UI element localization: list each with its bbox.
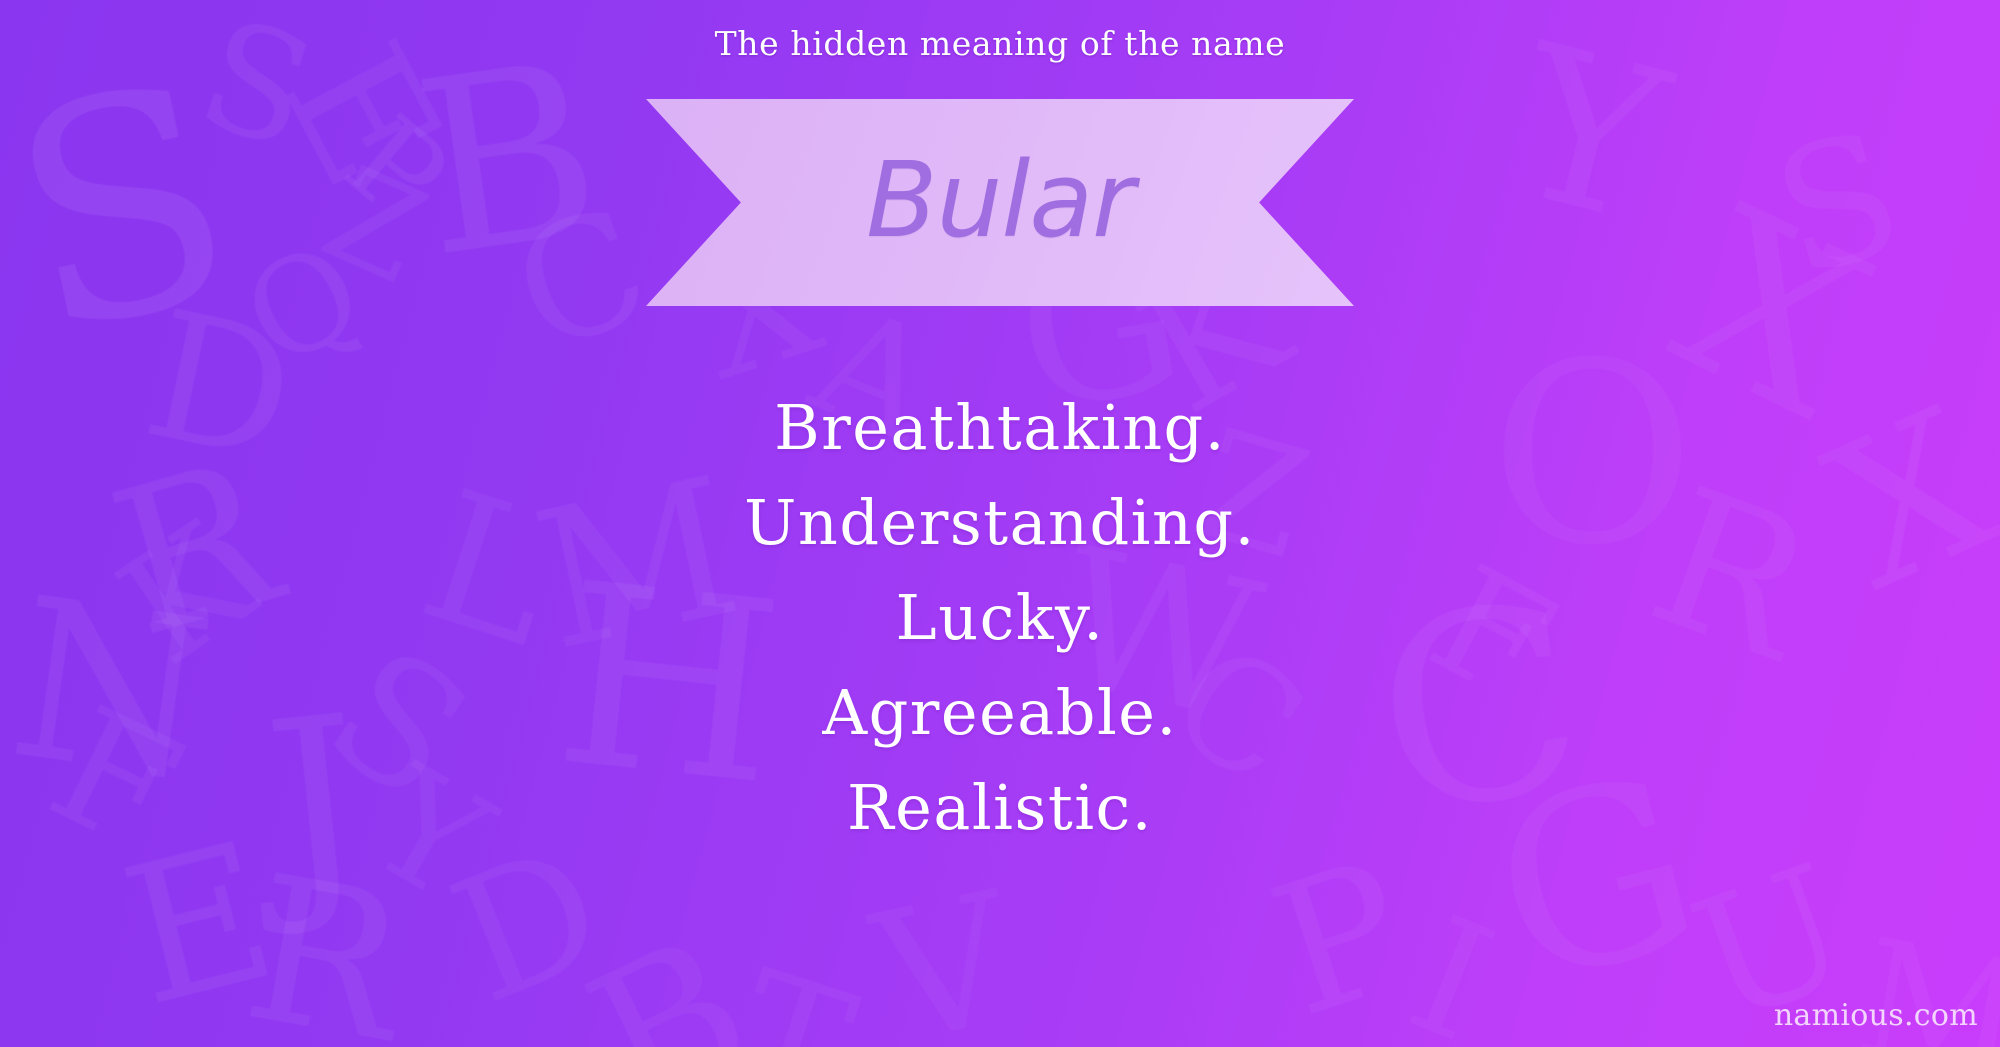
background-letter: V bbox=[863, 868, 1028, 1047]
background-letter: P bbox=[1255, 836, 1426, 1045]
background-letter: B bbox=[565, 909, 774, 1047]
meanings-list: Breathtaking.Understanding.Lucky.Agreeab… bbox=[0, 380, 2000, 855]
background-letter: P bbox=[326, 98, 465, 242]
site-watermark: namious.com bbox=[1774, 998, 1978, 1033]
name-meaning-graphic: SSQDPBECZRNKFERJSLMHDYXAGZKWCFGRXYSXOUMP… bbox=[0, 0, 2000, 1047]
meaning-line: Realistic. bbox=[0, 760, 2000, 855]
page-title: The hidden meaning of the name bbox=[0, 24, 2000, 63]
meaning-line: Lucky. bbox=[0, 570, 2000, 665]
meaning-line: Understanding. bbox=[0, 475, 2000, 570]
background-letter: I bbox=[1392, 894, 1511, 1047]
meaning-line: Breathtaking. bbox=[0, 380, 2000, 475]
background-letter: Z bbox=[307, 147, 442, 303]
background-letter: S bbox=[1759, 107, 1918, 303]
background-letter: T bbox=[718, 947, 869, 1047]
background-letter: B bbox=[404, 29, 612, 291]
background-letter: R bbox=[234, 848, 417, 1047]
background-letter: Q bbox=[226, 223, 381, 388]
name-ribbon-banner: Bular bbox=[646, 99, 1354, 306]
name-text: Bular bbox=[646, 99, 1354, 306]
background-letter: S bbox=[0, 42, 254, 378]
background-letter: C bbox=[496, 184, 666, 376]
meaning-line: Agreeable. bbox=[0, 665, 2000, 760]
